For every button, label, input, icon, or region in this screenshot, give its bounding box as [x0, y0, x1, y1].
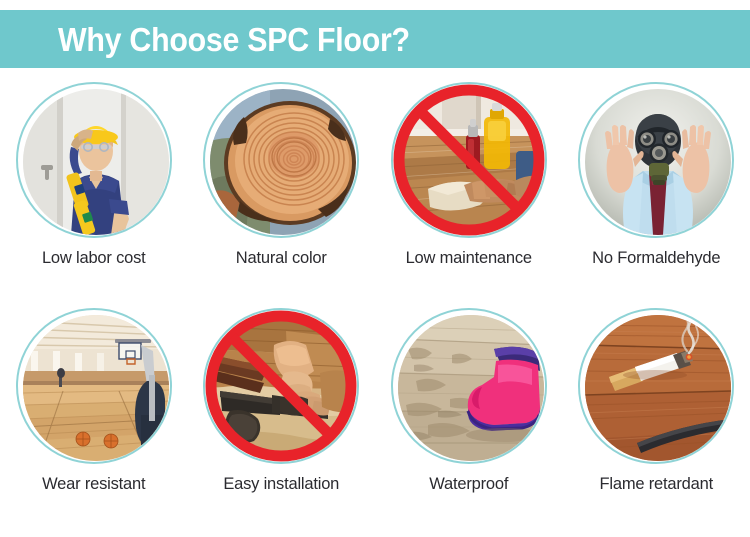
feature-card-natural-color[interactable]: Natural color	[188, 74, 376, 300]
feature-image-wrap	[203, 308, 359, 464]
feature-circle	[16, 308, 172, 464]
feature-image-wrap	[16, 308, 172, 464]
rain-boot-wet-floor-icon	[398, 315, 544, 461]
feature-card-easy-installation[interactable]: Easy installation	[188, 300, 376, 526]
floor-installation-icon	[210, 315, 356, 461]
gymnasium-icon	[23, 315, 169, 461]
feature-label: Low labor cost	[42, 249, 146, 268]
feature-card-flame-retardant[interactable]: Flame retardant	[563, 300, 750, 526]
feature-image-wrap	[578, 82, 734, 238]
header-banner: Why Choose SPC Floor?	[0, 10, 750, 68]
feature-label: No Formaldehyde	[592, 249, 720, 268]
feature-circle	[203, 82, 359, 238]
feature-label: Natural color	[236, 249, 327, 268]
feature-image-wrap	[578, 308, 734, 464]
feature-grid: Low labor cost	[0, 74, 750, 534]
worker-hardhat-icon	[23, 89, 169, 235]
feature-circle	[391, 82, 547, 238]
feature-label: Easy installation	[223, 475, 339, 494]
feature-image-wrap	[203, 82, 359, 238]
feature-label: Flame retardant	[600, 475, 713, 494]
feature-circle	[203, 308, 359, 464]
feature-circle	[391, 308, 547, 464]
page-title: Why Choose SPC Floor?	[58, 23, 410, 56]
feature-circle	[16, 82, 172, 238]
feature-image-wrap	[391, 308, 547, 464]
feature-circle	[578, 82, 734, 238]
feature-image-wrap	[391, 82, 547, 238]
infographic-page: Why Choose SPC Floor?	[0, 0, 750, 537]
feature-card-waterproof[interactable]: Waterproof	[375, 300, 563, 526]
feature-card-low-labor-cost[interactable]: Low labor cost	[0, 74, 188, 300]
feature-circle	[578, 308, 734, 464]
gas-mask-man-icon	[585, 89, 731, 235]
floor-cleaning-icon	[398, 89, 544, 235]
feature-card-wear-resistant[interactable]: Wear resistant	[0, 300, 188, 526]
feature-image-wrap	[16, 82, 172, 238]
tree-rings-icon	[210, 89, 356, 235]
feature-label: Waterproof	[429, 475, 508, 494]
feature-label: Wear resistant	[42, 475, 145, 494]
cigarette-on-floor-icon	[585, 315, 731, 461]
feature-card-low-maintenance[interactable]: Low maintenance	[375, 74, 563, 300]
feature-card-no-formaldehyde[interactable]: No Formaldehyde	[563, 74, 750, 300]
feature-label: Low maintenance	[406, 249, 532, 268]
